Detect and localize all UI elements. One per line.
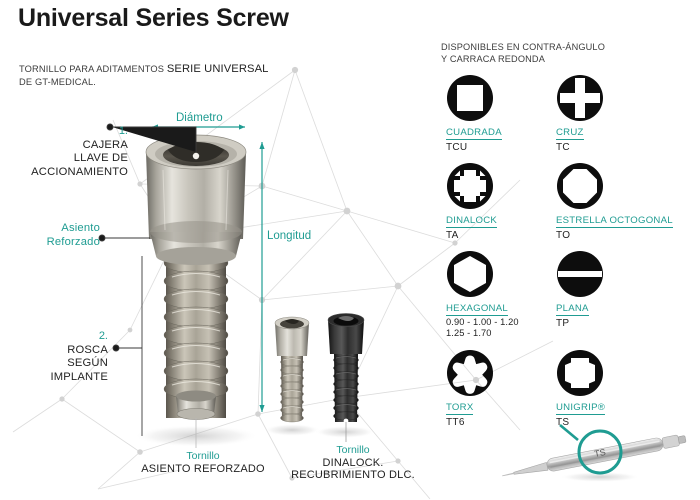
callout-cajera: 1. CAJERA LLAVE DE ACCIONAMIENTO bbox=[0, 125, 128, 179]
drive-type-cruz[interactable]: CRUZ TC bbox=[556, 74, 604, 153]
screwdriver-illustration: TS bbox=[501, 425, 687, 482]
caption-dinalock-screw: Tornillo DINALOCK. RECUBRIMIENTO DLC. bbox=[273, 444, 433, 482]
drive-type-unigrip-name: UNIGRIP® bbox=[556, 402, 605, 415]
intro-brand: SERIE UNIVERSAL bbox=[167, 63, 269, 75]
callout-asiento-line-1: Asiento bbox=[0, 222, 100, 236]
length-dimension-arrow bbox=[259, 142, 264, 412]
caption-main-screw: Tornillo ASIENTO REFORZADO bbox=[108, 450, 298, 475]
drive-type-unigrip[interactable]: UNIGRIP® TS bbox=[556, 349, 605, 428]
drive-type-plana[interactable]: PLANA TP bbox=[556, 250, 604, 329]
caption-dinalock-dark-1: DINALOCK. bbox=[273, 457, 433, 470]
intro-line-1: TORNILLO PARA ADITAMENTOS bbox=[19, 64, 164, 74]
cross-drive-icon bbox=[556, 74, 604, 122]
drive-type-hexagonal-name: HEXAGONAL bbox=[446, 303, 508, 316]
intro-caption: TORNILLO PARA ADITAMENTOS SERIE UNIVERSA… bbox=[19, 63, 269, 88]
drive-type-dinalock[interactable]: DINALOCK TA bbox=[446, 162, 497, 241]
hexagonal-drive-icon bbox=[446, 250, 494, 298]
main-screw-head bbox=[146, 135, 246, 265]
drive-type-hexagonal-sizes: 0.90 - 1.00 - 1.20 1.25 - 1.70 bbox=[446, 317, 519, 339]
drive-type-torx-code: TT6 bbox=[446, 417, 494, 428]
callout-cajera-line-3: ACCIONAMIENTO bbox=[0, 166, 128, 180]
page-title: Universal Series Screw bbox=[18, 4, 289, 33]
available-header-line-2: Y CARRACA REDONDA bbox=[441, 54, 545, 64]
small-dinalock-screw bbox=[328, 314, 364, 424]
square-drive-icon bbox=[446, 74, 494, 122]
poster-canvas: TS Universal Series Screw TORNILLO PARA … bbox=[0, 0, 700, 500]
available-header: DISPONIBLES EN CONTRA-ÁNGULO Y CARRACA R… bbox=[441, 41, 605, 65]
length-label: Longitud bbox=[267, 230, 311, 242]
callout-rosca-line-3: IMPLANTE bbox=[0, 371, 108, 385]
drive-type-estrella-octogonal-name: ESTRELLA OCTOGONAL bbox=[556, 215, 673, 228]
drive-type-dinalock-code: TA bbox=[446, 230, 497, 241]
drive-type-estrella-octogonal-code: TO bbox=[556, 230, 673, 241]
drive-type-torx[interactable]: TORX TT6 bbox=[446, 349, 494, 428]
callout-asiento: Asiento Reforzado bbox=[0, 222, 100, 249]
unigrip-drive-icon bbox=[556, 349, 604, 397]
intro-line-2: DE GT-MEDICAL. bbox=[19, 77, 96, 87]
callout-cajera-line-1: CAJERA bbox=[0, 139, 128, 153]
drive-type-estrella-octogonal[interactable]: ESTRELLA OCTOGONAL TO bbox=[556, 162, 673, 241]
caption-main-screw-dark: ASIENTO REFORZADO bbox=[108, 463, 298, 476]
octagonal-star-drive-icon bbox=[556, 162, 604, 210]
drive-type-torx-name: TORX bbox=[446, 402, 473, 415]
callout-cajera-line-2: LLAVE DE bbox=[0, 152, 128, 166]
drive-type-dinalock-name: DINALOCK bbox=[446, 215, 497, 228]
caption-dinalock-dark-2: RECUBRIMIENTO DLC. bbox=[273, 469, 433, 482]
torx-drive-icon bbox=[446, 349, 494, 397]
caption-dinalock-teal: Tornillo bbox=[273, 444, 433, 457]
callout-rosca: 2. ROSCA SEGÚN IMPLANTE bbox=[0, 330, 108, 384]
drive-type-unigrip-code: TS bbox=[556, 417, 605, 428]
callout-rosca-number: 2. bbox=[0, 330, 108, 344]
callout-rosca-line-2: SEGÚN bbox=[0, 357, 108, 371]
callout-asiento-line-2: Reforzado bbox=[0, 236, 100, 250]
dinalock-drive-icon bbox=[446, 162, 494, 210]
drive-type-cruz-code: TC bbox=[556, 142, 604, 153]
drive-type-plana-name: PLANA bbox=[556, 303, 589, 316]
drive-type-cuadrada[interactable]: CUADRADA TCU bbox=[446, 74, 502, 153]
drive-type-cuadrada-code: TCU bbox=[446, 142, 502, 153]
main-screw-thread bbox=[164, 252, 228, 420]
diameter-label: Diámetro bbox=[176, 112, 223, 124]
drive-type-cruz-name: CRUZ bbox=[556, 127, 584, 140]
drive-type-cuadrada-name: CUADRADA bbox=[446, 127, 502, 140]
drive-type-hexagonal[interactable]: HEXAGONAL 0.90 - 1.00 - 1.20 1.25 - 1.70 bbox=[446, 250, 519, 339]
callout-rosca-line-1: ROSCA bbox=[0, 344, 108, 358]
small-steel-screw bbox=[275, 317, 309, 422]
available-header-line-1: DISPONIBLES EN CONTRA-ÁNGULO bbox=[441, 42, 605, 52]
drive-type-plana-code: TP bbox=[556, 318, 604, 329]
caption-main-screw-teal: Tornillo bbox=[108, 450, 298, 463]
flat-drive-icon bbox=[556, 250, 604, 298]
callout-cajera-number: 1. bbox=[0, 125, 128, 139]
